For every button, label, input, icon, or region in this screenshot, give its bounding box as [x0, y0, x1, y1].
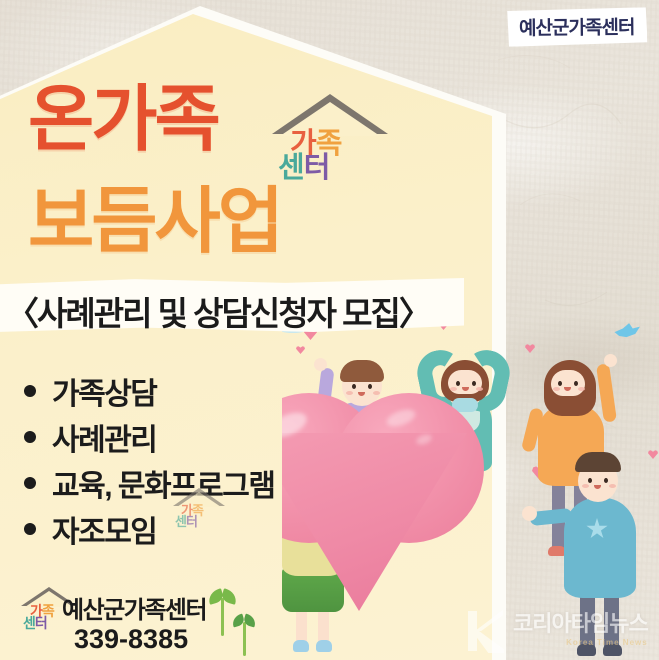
page-title-line-2: 보듬사업 — [28, 186, 281, 258]
logo-char-sen: 센 — [175, 514, 186, 529]
list-item: 자조모임 — [24, 506, 274, 552]
korea-time-news-watermark: 코리아타임뉴스 Korea Time News — [466, 608, 648, 652]
logo-char-teo: 터 — [35, 615, 47, 631]
list-item-label: 사례관리 — [52, 415, 156, 459]
list-item-label: 가족상담 — [52, 369, 156, 413]
top-badge-label: 예산군가족센터 — [519, 17, 635, 39]
poster-canvas: 예산군가족센터 온가족 보듬사업 가족 센터 〈사례관리 및 상담신청자 모집〉… — [0, 0, 659, 660]
list-item-label: 교육, 문화프로그램 — [52, 461, 274, 505]
bird-icon — [614, 322, 640, 340]
bullet-dot-icon — [24, 477, 36, 489]
top-badge: 예산군가족센터 — [505, 7, 647, 46]
program-list: 가족상담 사례관리 교육, 문화프로그램 자조모임 — [24, 368, 274, 552]
logo-line-2: 센터 — [175, 515, 197, 528]
small-heart-icon — [296, 346, 305, 354]
logo-char-sen: 센 — [23, 615, 35, 631]
logo-char-teo: 터 — [304, 152, 330, 184]
subtitle-text: 〈사례관리 및 상담신청자 모집〉 — [6, 287, 430, 335]
logo-line-2: 센터 — [278, 154, 329, 183]
list-item: 교육, 문화프로그램 — [24, 460, 274, 506]
k-logo-icon — [466, 608, 504, 652]
sprout-stem — [221, 598, 224, 636]
sprout-stem — [243, 622, 246, 656]
list-item: 사례관리 — [24, 414, 274, 460]
bullet-dot-icon — [24, 523, 36, 535]
watermark-korean-label: 코리아타임뉴스 — [513, 613, 648, 635]
list-item-label: 자조모임 — [52, 507, 156, 551]
family-center-logo-watermark: 가족 센터 — [170, 487, 228, 535]
footer-phone-number: 339-8385 — [74, 624, 188, 655]
bullet-dot-icon — [24, 431, 36, 443]
logo-line-2: 센터 — [23, 616, 47, 630]
family-center-logo: 가족 센터 — [268, 92, 396, 192]
logo-char-teo: 터 — [186, 514, 197, 529]
big-heart-graphic — [282, 393, 484, 621]
footer-organization-name: 예산군가족센터 — [62, 590, 206, 625]
logo-char-sen: 센 — [278, 152, 304, 184]
page-title-line-1: 온가족 — [28, 84, 218, 156]
bullet-dot-icon — [24, 385, 36, 397]
list-item: 가족상담 — [24, 368, 274, 414]
watermark-english-label: Korea Time News — [566, 638, 648, 647]
